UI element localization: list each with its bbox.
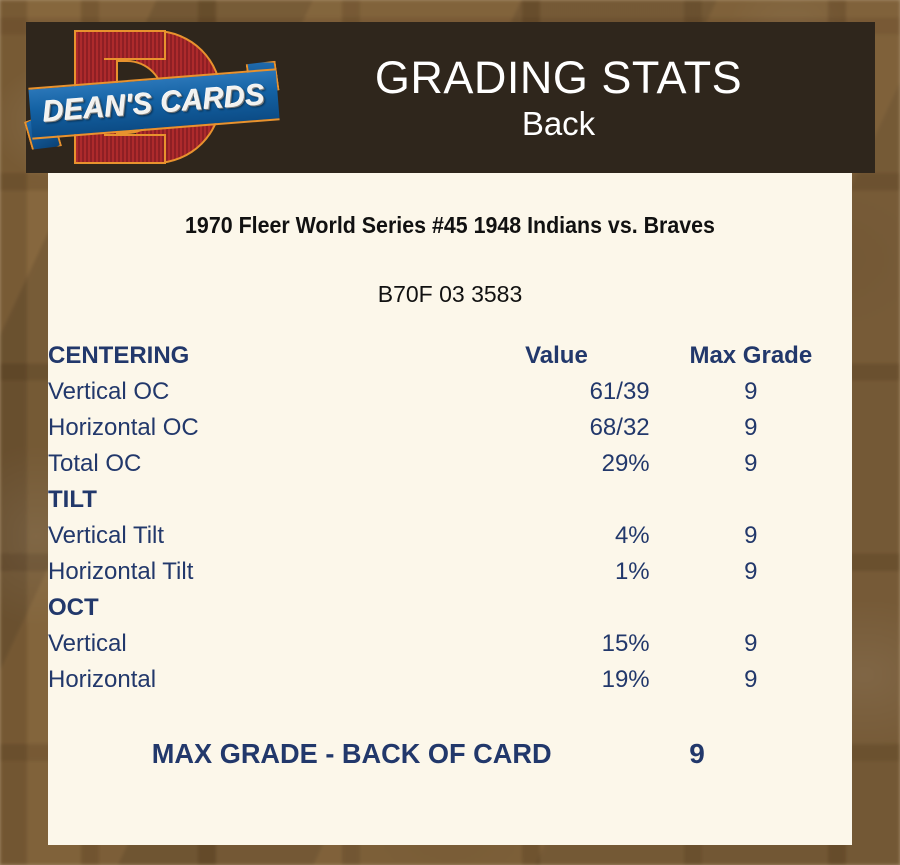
section-header-row: TILT <box>48 482 852 518</box>
stat-max-grade: 9 <box>650 626 852 662</box>
stat-label: Vertical <box>48 626 463 662</box>
max-grade-summary: MAX GRADE - BACK OF CARD 9 <box>48 738 852 770</box>
section-header-label: OCT <box>48 590 852 626</box>
stat-value: 1% <box>463 554 649 590</box>
table-header-row: CENTERING Value Max Grade <box>48 338 852 374</box>
stat-label: Horizontal OC <box>48 410 463 446</box>
stat-value: 29% <box>463 446 649 482</box>
column-header-centering: CENTERING <box>48 338 463 374</box>
table-row: Horizontal OC68/329 <box>48 410 852 446</box>
table-row: Horizontal19%9 <box>48 662 852 698</box>
header-title-group: GRADING STATS Back <box>282 52 875 144</box>
logo-d-bottom <box>104 134 166 164</box>
stats-table-head: CENTERING Value Max Grade <box>48 338 852 374</box>
stat-max-grade: 9 <box>650 410 852 446</box>
logo-d-top <box>104 30 166 60</box>
max-grade-summary-label: MAX GRADE - BACK OF CARD <box>48 738 596 770</box>
stat-max-grade: 9 <box>650 446 852 482</box>
stat-max-grade: 9 <box>650 554 852 590</box>
logo-wordmark: DEAN'S CARDS <box>42 78 267 129</box>
deans-cards-logo[interactable]: DEAN'S CARDS <box>26 22 282 173</box>
stat-label: Total OC <box>48 446 463 482</box>
card-title: 1970 Fleer World Series #45 1948 Indians… <box>76 212 824 239</box>
stat-value: 4% <box>463 518 649 554</box>
stat-label: Horizontal <box>48 662 463 698</box>
page-title: GRADING STATS <box>282 52 835 104</box>
stat-value: 15% <box>463 626 649 662</box>
stats-panel: 1970 Fleer World Series #45 1948 Indians… <box>48 172 852 845</box>
stat-value: 61/39 <box>463 374 649 410</box>
table-row: Total OC29%9 <box>48 446 852 482</box>
table-row: Vertical15%9 <box>48 626 852 662</box>
card-serial-number: B70F 03 3583 <box>48 281 852 308</box>
grading-stats-table: CENTERING Value Max Grade Vertical OC61/… <box>48 338 852 698</box>
stats-table-body: Vertical OC61/399Horizontal OC68/329Tota… <box>48 374 852 698</box>
table-row: Vertical OC61/399 <box>48 374 852 410</box>
stat-value: 68/32 <box>463 410 649 446</box>
stat-max-grade: 9 <box>650 518 852 554</box>
stat-value: 19% <box>463 662 649 698</box>
logo-ribbon-banner: DEAN'S CARDS <box>28 68 279 139</box>
column-header-value: Value <box>463 338 649 374</box>
header-bar: DEAN'S CARDS GRADING STATS Back <box>26 22 875 173</box>
table-row: Vertical Tilt4%9 <box>48 518 852 554</box>
stat-label: Vertical OC <box>48 374 463 410</box>
max-grade-summary-value: 9 <box>613 738 803 770</box>
section-header-label: TILT <box>48 482 852 518</box>
page-subtitle: Back <box>282 104 835 144</box>
stat-max-grade: 9 <box>650 374 852 410</box>
section-header-row: OCT <box>48 590 852 626</box>
column-header-max-grade: Max Grade <box>650 338 852 374</box>
stat-label: Horizontal Tilt <box>48 554 463 590</box>
stat-max-grade: 9 <box>650 662 852 698</box>
table-row: Horizontal Tilt1%9 <box>48 554 852 590</box>
stat-label: Vertical Tilt <box>48 518 463 554</box>
